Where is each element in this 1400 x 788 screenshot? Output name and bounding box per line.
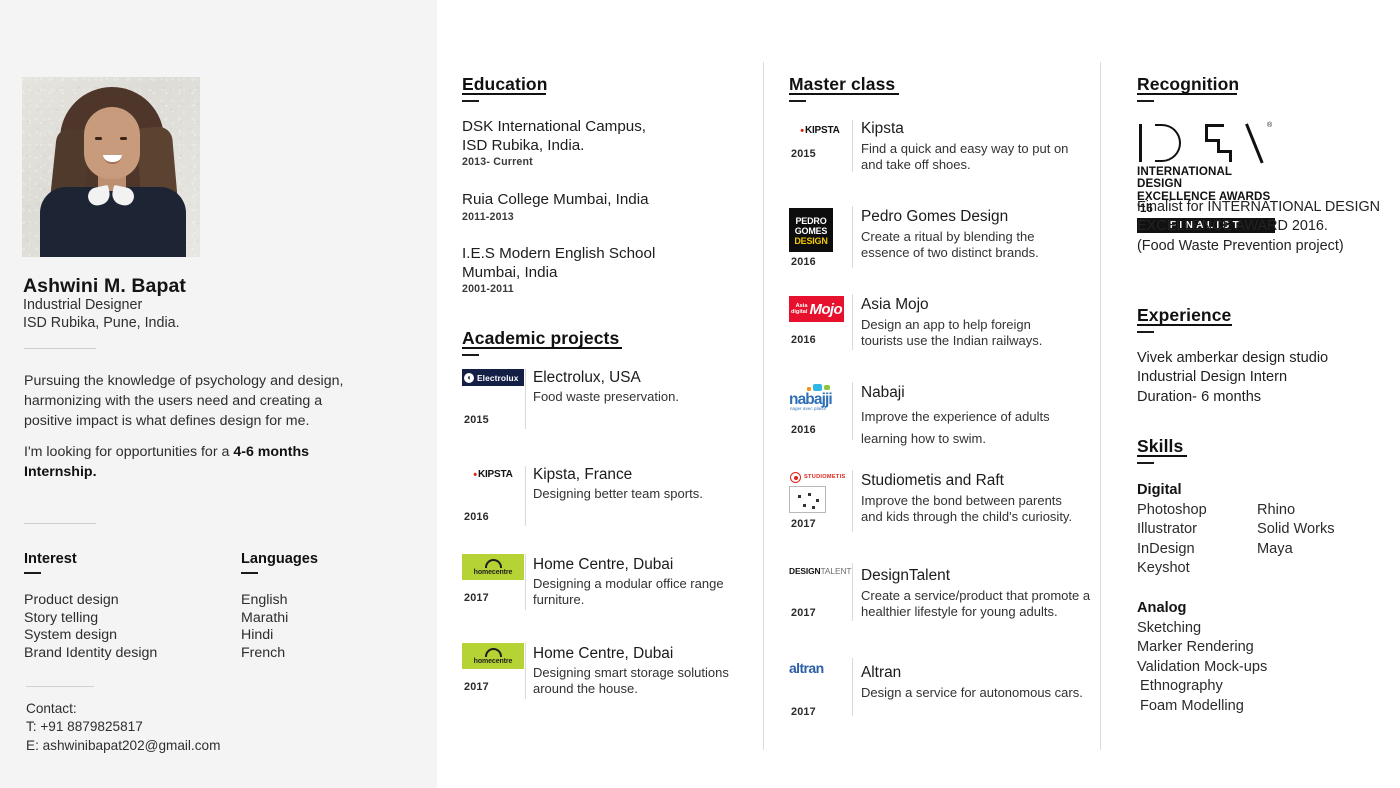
list-item: InDesign: [1137, 540, 1207, 559]
interest-rule: [24, 572, 41, 574]
education-item: I.E.S Modern English School Mumbai, Indi…: [462, 245, 655, 295]
project-year: 2017: [464, 592, 489, 604]
list-item: Solid Works: [1257, 520, 1335, 539]
recognition-text: Finalist for INTERNATIONAL DESIGN EXCELL…: [1137, 198, 1387, 256]
studiometis-circle-icon: [790, 472, 801, 483]
altran-logo: altran: [789, 660, 857, 676]
list-item: Illustrator: [1137, 520, 1207, 539]
row-separator: [525, 369, 526, 429]
project-desc: Food waste preservation.: [533, 389, 748, 405]
masterclass-title: Nabaji: [861, 384, 905, 401]
masterclass-desc: Design an app to help foreign tourists u…: [861, 317, 1076, 350]
project-row: homecentre 2017 Home Centre, Dubai Desig…: [462, 643, 752, 705]
contact-block: Contact: T: +91 8879825817 E: ashwinibap…: [26, 700, 220, 755]
masterclass-desc: Design a service for autonomous cars.: [861, 685, 1091, 701]
project-year: 2016: [464, 511, 489, 523]
nabaji-dot-green: [824, 385, 830, 390]
mojo-line-2: digital: [791, 309, 807, 315]
masterclass-year: 2016: [791, 424, 816, 436]
kipsta-wordmark: KIPSTA: [478, 469, 513, 480]
masterclass-year: 2017: [791, 518, 816, 530]
education-school: I.E.S Modern English School Mumbai, Indi…: [462, 245, 655, 282]
masterclass-year: 2016: [791, 256, 816, 268]
masterclass-row: PEDRO GOMES DESIGN 2016 Pedro Gomes Desi…: [789, 208, 1089, 268]
idea-line-1: INTERNATIONAL DESIGN: [1137, 166, 1275, 191]
masterclass-row: Asia digital Mojo 2016 Asia Mojo Design …: [789, 296, 1089, 352]
project-desc: Designing better team sports.: [533, 486, 748, 502]
project-title: Kipsta, France: [533, 466, 632, 483]
project-title: Electrolux, USA: [533, 369, 641, 386]
recognition-underline: [1137, 93, 1237, 95]
idea-letter-a: [1245, 123, 1263, 163]
education-heading: Education: [462, 74, 548, 95]
photo-smile: [103, 155, 122, 164]
list-item: Maya: [1257, 540, 1335, 559]
masterclass-desc: Improve the bond between parents and kid…: [861, 493, 1083, 526]
pedro-line-2: GOMES: [795, 226, 828, 236]
masterclass-desc: Create a service/product that promote a …: [861, 588, 1091, 621]
academic-projects-underline: [462, 347, 622, 349]
profile-panel: Ashwini M. Bapat Industrial Designer ISD…: [0, 0, 437, 788]
masterclass-title: Altran: [861, 664, 901, 681]
education-item: Ruia College Mumbai, India 2011-2013: [462, 191, 649, 223]
row-separator: [852, 206, 853, 268]
skills-analog-heading: Analog: [1137, 600, 1186, 616]
homecentre-arch-icon: [485, 648, 502, 657]
list-item: Hindi: [241, 627, 288, 645]
experience-company: Vivek amberkar design studio: [1137, 349, 1328, 368]
masterclass-desc: Create a ritual by blending the essence …: [861, 229, 1071, 262]
interest-list: Product design Story telling System desi…: [24, 592, 157, 662]
altran-wordmark: altran: [789, 660, 857, 676]
kipsta-wordmark: KIPSTA: [805, 125, 840, 136]
masterclass-title: DesignTalent: [861, 567, 950, 584]
photo-face: [84, 107, 140, 179]
project-row: ◖ Electrolux 2015 Electrolux, USA Food w…: [462, 369, 752, 431]
masterclass-year: 2017: [791, 706, 816, 718]
contact-phone[interactable]: T: +91 8879825817: [26, 718, 220, 736]
list-item: Ethnography: [1137, 677, 1267, 696]
homecentre-logo: homecentre: [462, 643, 530, 669]
nabaji-dot-cyan: [813, 384, 822, 391]
languages-heading: Languages: [241, 551, 318, 567]
designtalent-word-1: DESIGN: [789, 566, 821, 576]
nabaji-tagline: nager avec plaisir: [790, 406, 826, 411]
electrolux-logo: ◖ Electrolux: [462, 369, 530, 386]
photo-eye-right: [120, 137, 127, 140]
skills-digital-right: Rhino Solid Works Maya: [1257, 501, 1335, 559]
experience-rule: [1137, 331, 1154, 333]
profile-name: Ashwini M. Bapat: [23, 275, 186, 298]
kipsta-dot: •: [800, 125, 804, 137]
list-item: Keyshot: [1137, 559, 1207, 578]
skills-analog-list: Sketching Marker Rendering Validation Mo…: [1137, 619, 1267, 716]
masterclass-row: DESIGNTALENT 2017 DesignTalent Create a …: [789, 565, 1089, 625]
registered-icon: ®: [1267, 122, 1272, 129]
list-item: English: [241, 592, 288, 610]
education-heading-underline: [462, 93, 546, 95]
list-item: Marathi: [241, 610, 288, 628]
project-year: 2017: [464, 681, 489, 693]
row-separator: [852, 120, 853, 172]
contact-email[interactable]: E: ashwinibapat202@gmail.com: [26, 737, 220, 755]
project-row: •KIPSTA 2016 Kipsta, France Designing be…: [462, 466, 752, 528]
pedro-line-3: DESIGN: [794, 236, 827, 246]
masterclass-title: Kipsta: [861, 120, 904, 137]
languages-rule: [241, 572, 258, 574]
masterclass-year: 2016: [791, 334, 816, 346]
homecentre-arch-icon: [485, 559, 502, 568]
project-year: 2015: [464, 414, 489, 426]
idea-letterforms: ®: [1137, 120, 1275, 166]
masterclass-year: 2017: [791, 607, 816, 619]
designtalent-logo: DESIGNTALENT: [789, 565, 857, 577]
project-title: Home Centre, Dubai: [533, 556, 673, 573]
master-class-heading: Master class: [789, 74, 895, 95]
row-separator: [525, 466, 526, 526]
studiometis-logo: STUDIOMETIS: [789, 472, 857, 514]
column-divider-2: [1100, 62, 1101, 750]
education-year: 2013- Current: [462, 156, 646, 168]
profile-role: Industrial Designer: [23, 297, 142, 313]
column-divider-1: [763, 62, 764, 750]
row-separator: [852, 563, 853, 621]
asia-mojo-logo: Asia digital Mojo: [789, 296, 857, 322]
electrolux-mark: ◖: [464, 373, 474, 383]
masterclass-row: nabajji nager avec plaisir 2016 Nabaji I…: [789, 384, 1089, 442]
skills-rule: [1137, 462, 1154, 464]
contact-label: Contact:: [26, 700, 220, 718]
divider-bio-top: [24, 348, 96, 349]
divider-interest-top: [24, 523, 96, 524]
masterclass-year: 2015: [791, 148, 816, 160]
education-year: 2011-2013: [462, 211, 649, 223]
profile-availability: I'm looking for opportunities for a 4-6 …: [24, 442, 364, 482]
experience-heading: Experience: [1137, 305, 1231, 326]
profile-school: ISD Rubika, Pune, India.: [23, 315, 180, 331]
homecentre-logo: homecentre: [462, 554, 530, 580]
masterclass-title: Asia Mojo: [861, 296, 929, 313]
recognition-heading: Recognition: [1137, 74, 1239, 95]
masterclass-desc: Improve the experience of adults learnin…: [861, 406, 1076, 450]
photo-eye-left: [95, 137, 102, 140]
experience-underline: [1137, 324, 1232, 326]
homecentre-wordmark: homecentre: [474, 658, 513, 665]
pedro-line-1: PEDRO: [795, 216, 826, 226]
designtalent-word-2: TALENT: [821, 566, 852, 576]
list-item: Product design: [24, 592, 157, 610]
project-desc: Designing a modular office range furnitu…: [533, 576, 738, 609]
skills-digital-heading: Digital: [1137, 482, 1182, 498]
experience-duration: Duration- 6 months: [1137, 388, 1328, 407]
studiometis-wordmark: STUDIOMETIS: [804, 474, 846, 480]
masterclass-title: Studiometis and Raft: [861, 472, 1004, 489]
divider-contact-top: [26, 686, 94, 687]
mojo-small-text: Asia digital: [791, 303, 807, 315]
homecentre-wordmark: homecentre: [474, 569, 513, 576]
interest-heading: Interest: [24, 551, 77, 567]
list-item: Photoshop: [1137, 501, 1207, 520]
list-item: Rhino: [1257, 501, 1335, 520]
languages-list: English Marathi Hindi French: [241, 592, 288, 662]
list-item: Validation Mock-ups: [1137, 658, 1267, 677]
masterclass-title: Pedro Gomes Design: [861, 208, 1008, 225]
master-class-underline: [789, 93, 899, 95]
experience-block: Vivek amberkar design studio Industrial …: [1137, 349, 1328, 407]
skills-heading: Skills: [1137, 436, 1183, 457]
mojo-wordmark: Mojo: [809, 301, 842, 318]
education-year: 2001-2011: [462, 283, 655, 295]
education-item: DSK International Campus, ISD Rubika, In…: [462, 118, 646, 168]
masterclass-row: altran 2017 Altran Design a service for …: [789, 660, 1089, 718]
row-separator: [852, 382, 853, 440]
education-rule: [462, 100, 479, 102]
recognition-rule: [1137, 100, 1154, 102]
idea-letter-i: [1139, 124, 1142, 162]
list-item: System design: [24, 627, 157, 645]
experience-role: Industrial Design Intern: [1137, 368, 1328, 387]
master-class-rule: [789, 100, 806, 102]
kipsta-dot: •: [473, 469, 477, 481]
idea-letter-d: [1155, 124, 1181, 162]
row-separator: [525, 554, 526, 610]
list-item: Foam Modelling: [1137, 697, 1267, 716]
skills-digital-left: Photoshop Illustrator InDesign Keyshot: [1137, 501, 1207, 579]
list-item: Story telling: [24, 610, 157, 628]
raft-logo: [789, 486, 826, 513]
list-item: Brand Identity design: [24, 645, 157, 663]
education-school: Ruia College Mumbai, India: [462, 191, 649, 210]
project-desc: Designing smart storage solutions around…: [533, 665, 738, 698]
profile-bio: Pursuing the knowledge of psychology and…: [24, 371, 374, 431]
profile-photo: [22, 77, 200, 257]
row-separator: [852, 294, 853, 350]
list-item: French: [241, 645, 288, 663]
project-title: Home Centre, Dubai: [533, 645, 673, 662]
row-separator: [525, 643, 526, 699]
list-item: Marker Rendering: [1137, 638, 1267, 657]
list-item: Sketching: [1137, 619, 1267, 638]
row-separator: [852, 658, 853, 716]
kipsta-logo: •KIPSTA: [789, 122, 857, 139]
masterclass-row: STUDIOMETIS 2017 Studiometis and Raft Im…: [789, 472, 1089, 534]
idea-letter-e: [1205, 124, 1224, 127]
kipsta-logo: •KIPSTA: [462, 466, 530, 483]
academic-projects-rule: [462, 354, 479, 356]
resume-page: Ashwini M. Bapat Industrial Designer ISD…: [0, 0, 1400, 788]
availability-prefix: I'm looking for opportunities for a: [24, 444, 233, 460]
pedro-gomes-design-logo: PEDRO GOMES DESIGN: [789, 208, 857, 252]
electrolux-wordmark: Electrolux: [477, 373, 519, 383]
skills-underline: [1137, 455, 1187, 457]
masterclass-row: •KIPSTA 2015 Kipsta Find a quick and eas…: [789, 122, 1089, 177]
project-row: homecentre 2017 Home Centre, Dubai Desig…: [462, 554, 752, 616]
row-separator: [852, 470, 853, 532]
academic-projects-heading: Academic projects: [462, 328, 619, 349]
nabaji-logo: nabajji nager avec plaisir: [789, 384, 857, 412]
masterclass-desc: Find a quick and easy way to put on and …: [861, 141, 1076, 174]
education-school: DSK International Campus, ISD Rubika, In…: [462, 118, 646, 155]
